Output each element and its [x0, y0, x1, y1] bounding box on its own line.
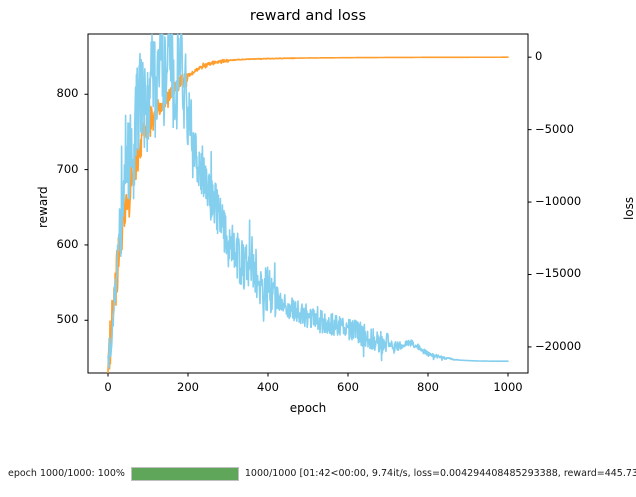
y2-tick--15000: −15000: [535, 266, 597, 280]
y2-tick--20000: −20000: [535, 339, 597, 353]
matplotlib-figure: reward and loss epoch reward loss 020040…: [0, 0, 636, 450]
progress-bar-fill: [132, 468, 238, 480]
progress-bar-track: [131, 467, 239, 481]
progress-description: epoch 1000/1000: 100%: [8, 468, 125, 479]
x-tick-200: 200: [158, 380, 218, 394]
x-tick-1000: 1000: [478, 380, 538, 394]
y-tick-700: 700: [21, 162, 79, 176]
x-tick-800: 800: [398, 380, 458, 394]
x-tick-600: 600: [318, 380, 378, 394]
x-tick-400: 400: [238, 380, 298, 394]
x-axis-label: epoch: [268, 401, 348, 415]
y-tick-500: 500: [21, 312, 79, 326]
progress-statistics: 1000/1000 [01:42<00:00, 9.74it/s, loss=0…: [245, 468, 636, 479]
y2-tick--5000: −5000: [535, 122, 597, 136]
y-tick-800: 800: [21, 86, 79, 100]
y-axis-right-label: loss: [622, 196, 636, 219]
x-tick-0: 0: [78, 380, 138, 394]
y2-tick-0: 0: [535, 49, 597, 63]
y2-tick--10000: −10000: [535, 194, 597, 208]
tqdm-progress-row: epoch 1000/1000: 100% 1000/1000 [01:42<0…: [0, 450, 636, 497]
y-axis-left-label: reward: [36, 186, 50, 228]
y-tick-600: 600: [21, 237, 79, 251]
